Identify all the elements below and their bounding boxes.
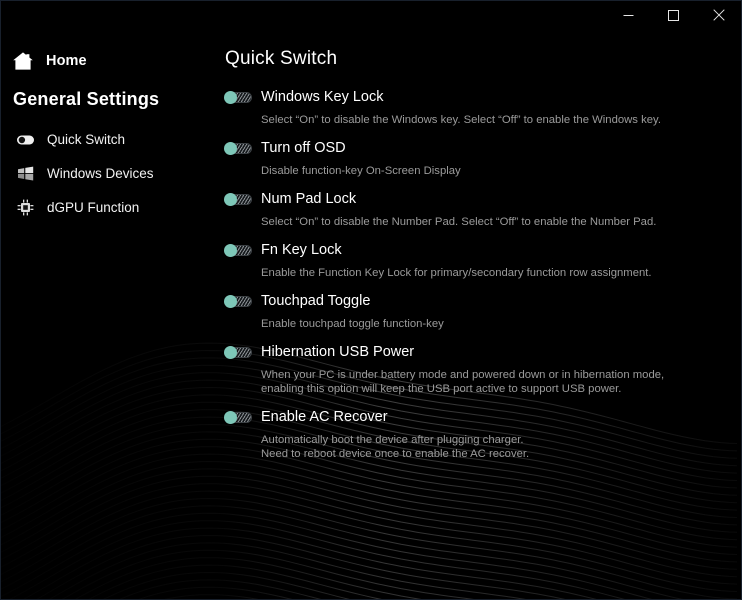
- toggle-fn-key-lock[interactable]: [225, 245, 252, 256]
- toggle-knob: [224, 244, 237, 257]
- toggle-knob: [224, 91, 237, 104]
- toggle-knob: [224, 346, 237, 359]
- title-bar: [1, 1, 741, 29]
- setting-row: Num Pad Lock Select “On” to disable the …: [225, 188, 725, 229]
- toggle-knob: [224, 295, 237, 308]
- setting-title: Hibernation USB Power: [261, 344, 414, 360]
- setting-description: Disable function-key On-Screen Display: [261, 164, 725, 178]
- toggle-knob: [224, 142, 237, 155]
- setting-title: Num Pad Lock: [261, 191, 356, 207]
- setting-row: Turn off OSD Disable function-key On-Scr…: [225, 137, 725, 178]
- setting-description: Enable touchpad toggle function-key: [261, 317, 725, 331]
- sidebar-item-quick-switch[interactable]: Quick Switch: [1, 124, 215, 154]
- home-icon: [11, 49, 35, 73]
- cpu-chip-icon: [16, 198, 35, 217]
- toggle-num-pad-lock[interactable]: [225, 194, 252, 205]
- setting-row: Enable AC Recover Automatically boot the…: [225, 406, 725, 461]
- close-button[interactable]: [696, 1, 741, 29]
- toggle-switch-icon: [16, 130, 35, 149]
- page-title: Quick Switch: [225, 48, 725, 70]
- toggle-enable-ac-recover[interactable]: [225, 412, 252, 423]
- maximize-button[interactable]: [651, 1, 696, 29]
- setting-title: Fn Key Lock: [261, 242, 342, 258]
- sidebar-item-windows-devices[interactable]: Windows Devices: [1, 158, 215, 188]
- setting-description: Automatically boot the device after plug…: [261, 433, 725, 461]
- setting-description: Select “On” to disable the Windows key. …: [261, 113, 725, 127]
- sidebar: Home General Settings Quick Switch: [1, 29, 215, 600]
- main-content: Quick Switch Windows Key Lock Select “On…: [215, 29, 742, 600]
- setting-title: Turn off OSD: [261, 140, 346, 156]
- toggle-turn-off-osd[interactable]: [225, 143, 252, 154]
- sidebar-item-label: Windows Devices: [47, 166, 154, 181]
- toggle-knob: [224, 193, 237, 206]
- sidebar-home-label: Home: [46, 53, 87, 69]
- windows-device-icon: [16, 164, 35, 183]
- setting-title: Windows Key Lock: [261, 89, 384, 105]
- sidebar-item-dgpu-function[interactable]: dGPU Function: [1, 192, 215, 222]
- setting-row: Windows Key Lock Select “On” to disable …: [225, 86, 725, 127]
- setting-description: When your PC is under battery mode and p…: [261, 368, 725, 396]
- setting-description: Select “On” to disable the Number Pad. S…: [261, 215, 725, 229]
- setting-row: Touchpad Toggle Enable touchpad toggle f…: [225, 290, 725, 331]
- setting-row: Fn Key Lock Enable the Function Key Lock…: [225, 239, 725, 280]
- sidebar-section-title: General Settings: [1, 77, 215, 120]
- setting-title: Touchpad Toggle: [261, 293, 370, 309]
- setting-title: Enable AC Recover: [261, 409, 388, 425]
- toggle-knob: [224, 411, 237, 424]
- sidebar-item-label: Quick Switch: [47, 132, 125, 147]
- app-window: Home General Settings Quick Switch: [0, 0, 742, 600]
- sidebar-item-home[interactable]: Home: [1, 45, 215, 77]
- toggle-windows-key-lock[interactable]: [225, 92, 252, 103]
- setting-description: Enable the Function Key Lock for primary…: [261, 266, 725, 280]
- minimize-button[interactable]: [606, 1, 651, 29]
- setting-row: Hibernation USB Power When your PC is un…: [225, 341, 725, 396]
- toggle-hibernation-usb-power[interactable]: [225, 347, 252, 358]
- toggle-touchpad-toggle[interactable]: [225, 296, 252, 307]
- sidebar-item-label: dGPU Function: [47, 200, 139, 215]
